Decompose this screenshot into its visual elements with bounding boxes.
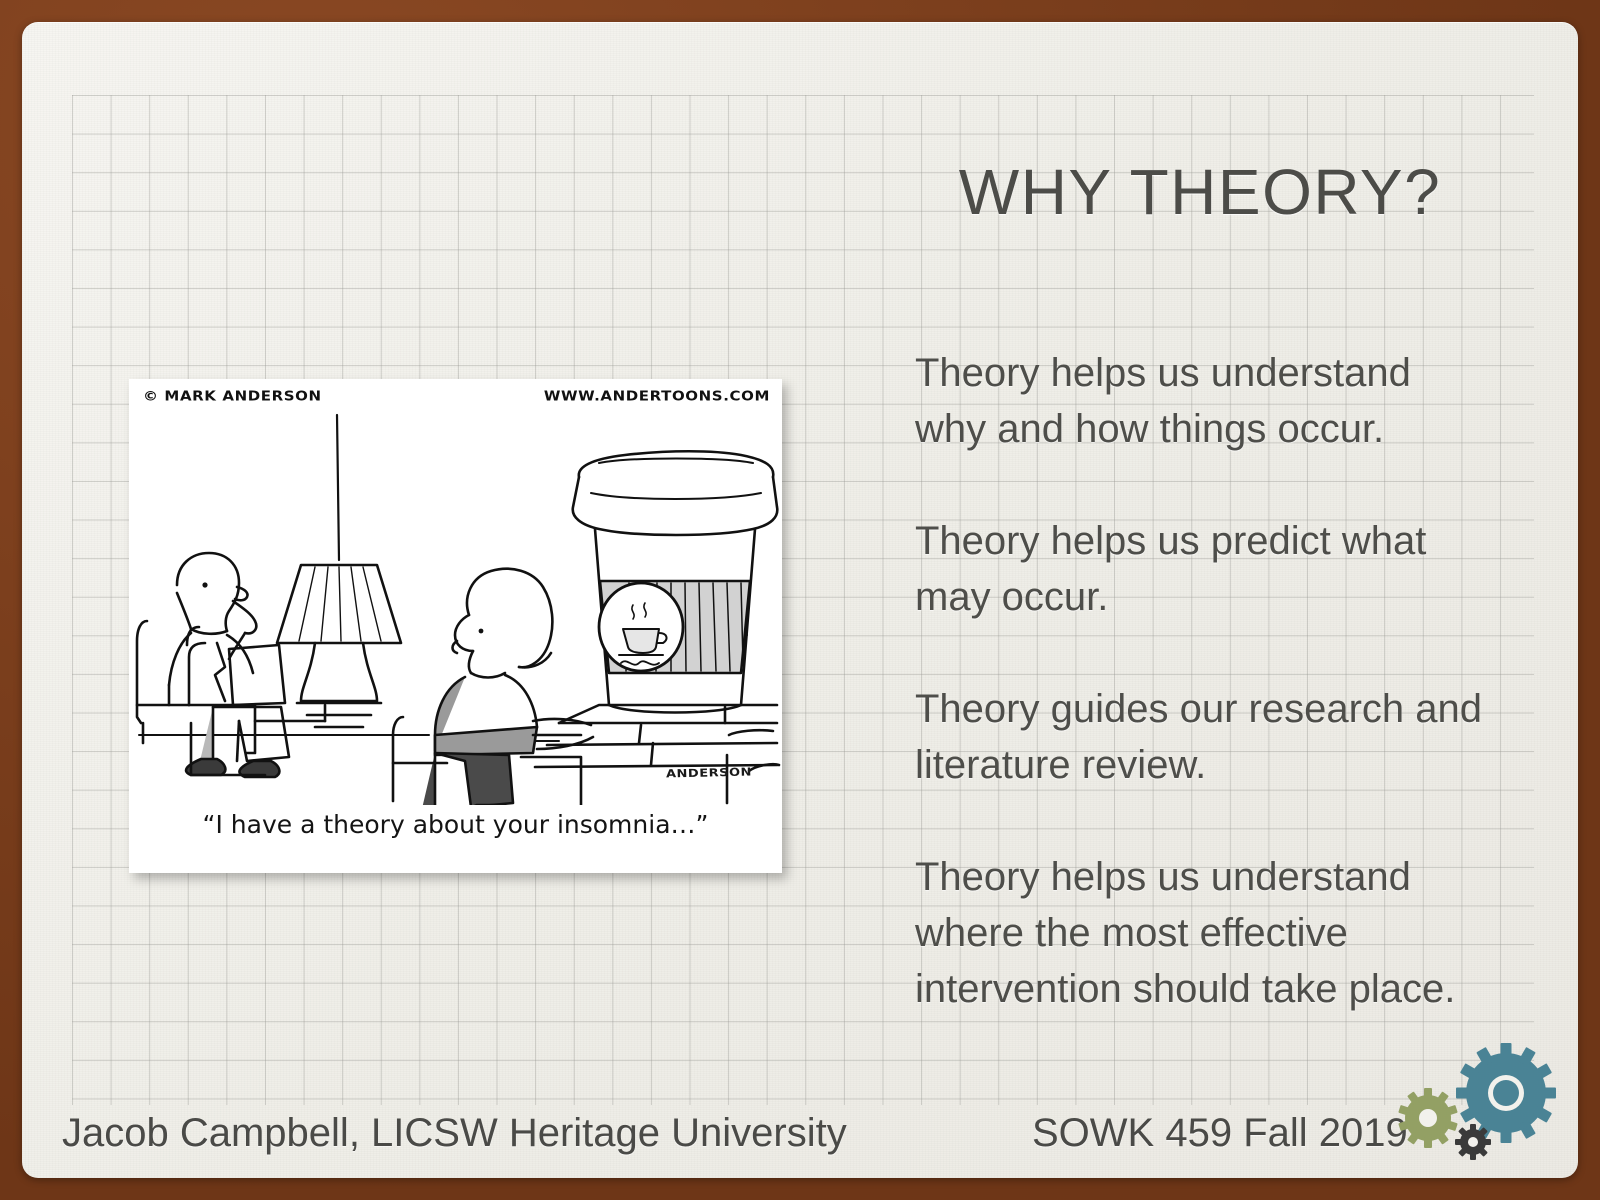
slide-title: WHY THEORY? <box>882 155 1518 229</box>
gears-decoration <box>1366 1022 1566 1172</box>
body-paragraph-1: Theory helps us understand why and how t… <box>915 345 1485 457</box>
body-paragraph-3: Theory guides our research and literatur… <box>915 681 1485 793</box>
cartoon-image: © MARK ANDERSON WWW.ANDERTOONS.COM <box>129 379 782 873</box>
gear-icon-small-dark <box>1455 1124 1491 1160</box>
cartoon-copyright-credit: © MARK ANDERSON <box>143 388 322 404</box>
footer-presenter: Jacob Campbell, LICSW Heritage Universit… <box>62 1111 847 1156</box>
body-paragraph-4: Theory helps us understand where the mos… <box>915 849 1485 1017</box>
cartoon-artist-signature: ANDERSON <box>666 766 752 781</box>
cartoon-caption: “I have a theory about your insomnia…” <box>129 810 782 839</box>
body-paragraph-2: Theory helps us predict what may occur. <box>915 513 1485 625</box>
footer-course: SOWK 459 Fall 2019 <box>1032 1111 1408 1156</box>
slide-paper-background: © MARK ANDERSON WWW.ANDERTOONS.COM <box>22 22 1578 1178</box>
cartoon-website-credit: WWW.ANDERTOONS.COM <box>544 388 770 404</box>
slide-body-text: Theory helps us understand why and how t… <box>915 345 1485 1017</box>
presentation-slide: © MARK ANDERSON WWW.ANDERTOONS.COM <box>0 0 1600 1200</box>
gear-icon-medium-olive <box>1398 1088 1458 1148</box>
cartoon-artwork <box>129 405 782 805</box>
